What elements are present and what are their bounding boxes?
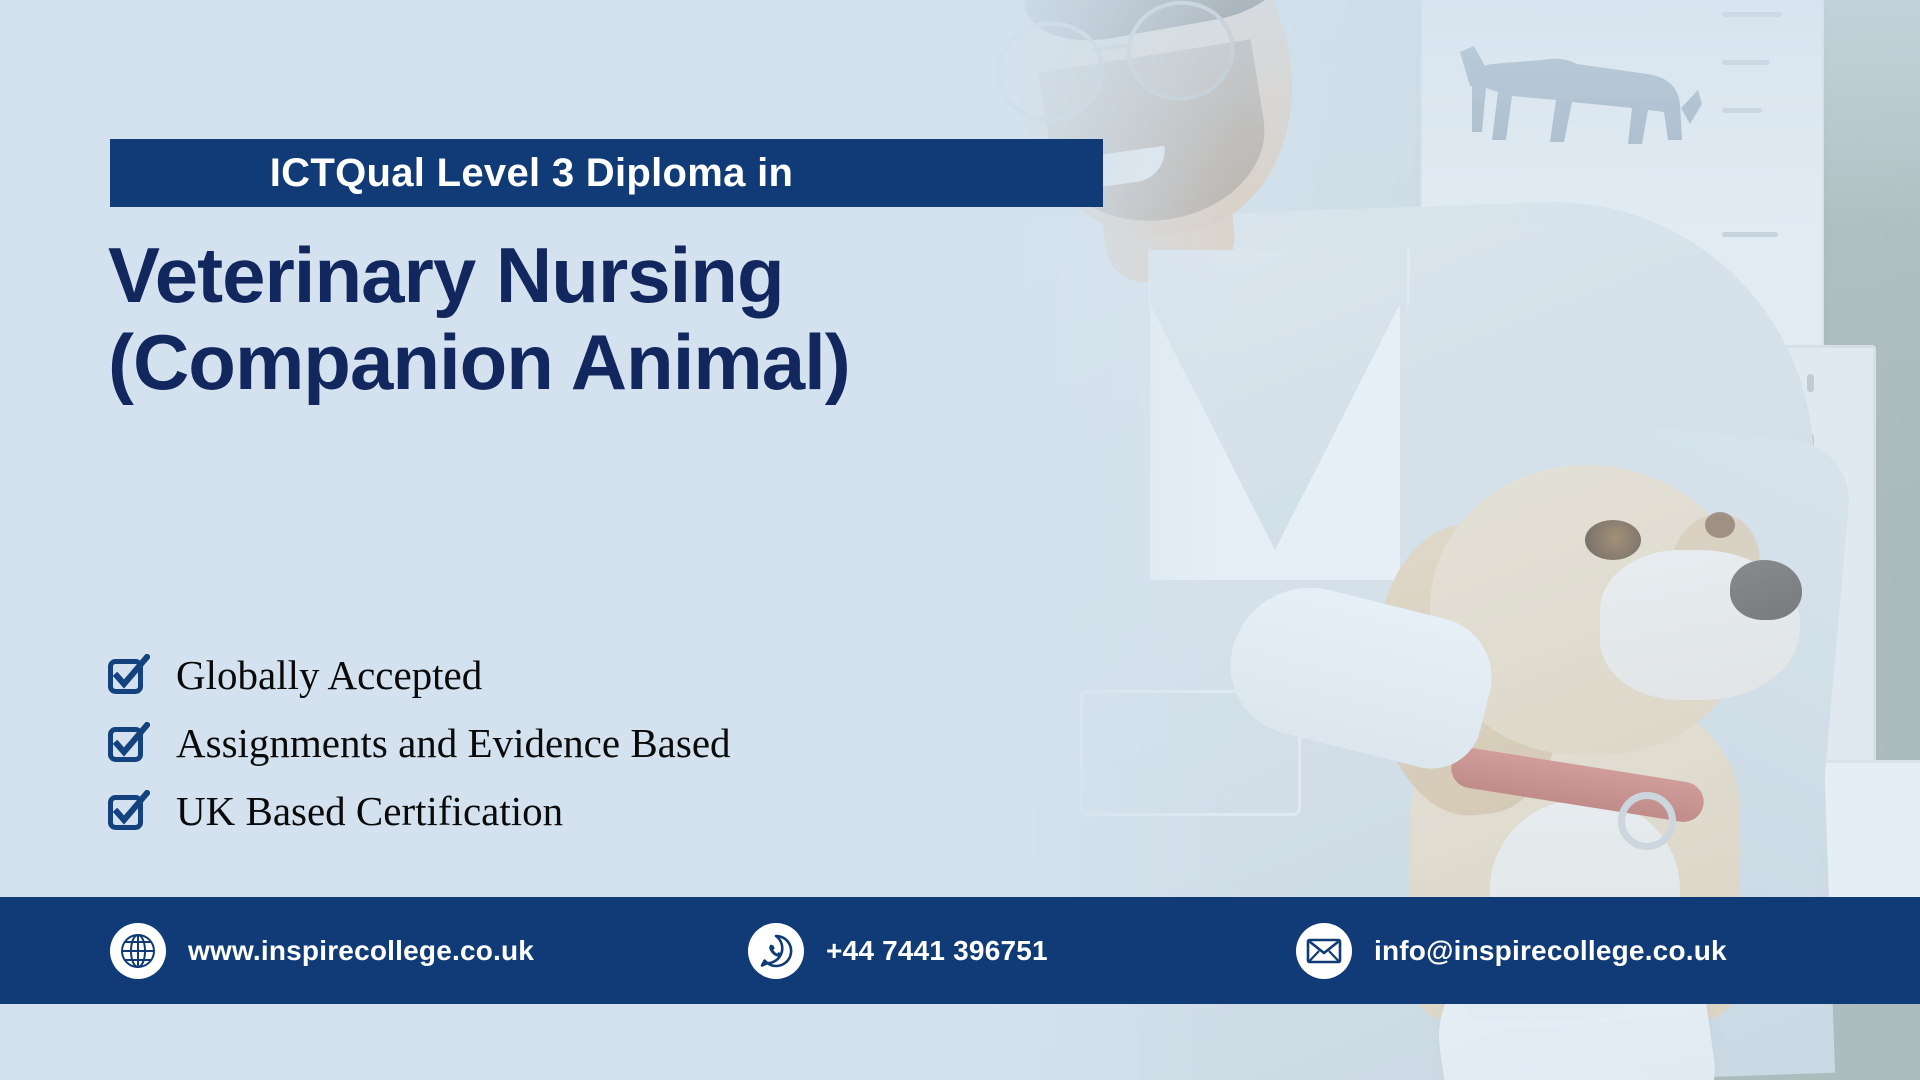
list-item: Assignments and Evidence Based (108, 720, 1008, 766)
feature-checklist: Globally Accepted Assignments and Eviden… (108, 652, 1008, 856)
list-item: UK Based Certification (108, 788, 1008, 834)
footer-website[interactable]: www.inspirecollege.co.uk (110, 923, 534, 979)
list-item-label: UK Based Certification (176, 791, 563, 832)
qualification-badge-label: ICTQual Level 3 Diploma in (110, 151, 1103, 196)
whatsapp-icon (748, 923, 804, 979)
globe-icon (110, 923, 166, 979)
checkbox-checked-icon (108, 654, 150, 696)
footer-email[interactable]: info@inspirecollege.co.uk (1296, 923, 1727, 979)
course-title-line-2: (Companion Animal) (108, 319, 1068, 406)
course-title-line-1: Veterinary Nursing (108, 232, 1068, 319)
footer-website-label: www.inspirecollege.co.uk (188, 935, 534, 967)
footer-email-label: info@inspirecollege.co.uk (1374, 935, 1727, 967)
envelope-icon (1296, 923, 1352, 979)
list-item-label: Globally Accepted (176, 655, 482, 696)
list-item: Globally Accepted (108, 652, 1008, 698)
course-banner: ICTQual Level 3 Diploma in Veterinary Nu… (0, 0, 1920, 1080)
contact-footer: www.inspirecollege.co.uk +44 7441 396751 (0, 897, 1920, 1004)
footer-phone[interactable]: +44 7441 396751 (748, 923, 1048, 979)
course-title: Veterinary Nursing (Companion Animal) (108, 232, 1068, 407)
footer-phone-label: +44 7441 396751 (826, 935, 1048, 967)
checkbox-checked-icon (108, 790, 150, 832)
qualification-badge: ICTQual Level 3 Diploma in (110, 139, 1103, 207)
list-item-label: Assignments and Evidence Based (176, 723, 731, 764)
checkbox-checked-icon (108, 722, 150, 764)
